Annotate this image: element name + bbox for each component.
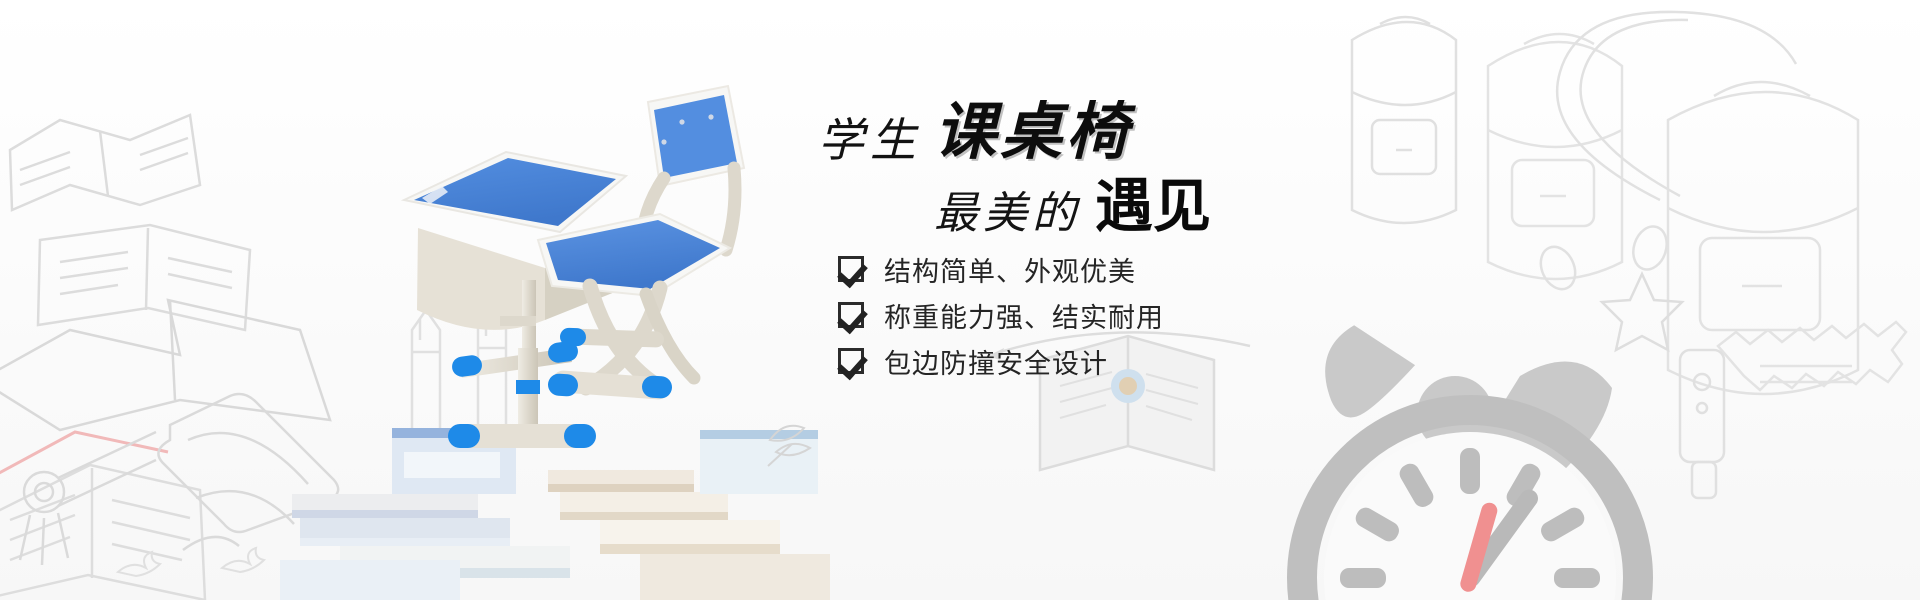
headline-line1-main: 课桌椅	[934, 99, 1132, 167]
checkbox-checked-icon	[838, 348, 864, 374]
magazine-icon	[38, 225, 250, 330]
feature-item: 结构简单、外观优美	[838, 248, 1298, 290]
earphone-icon	[1534, 12, 1796, 295]
feature-label: 称重能力强、结实耐用	[884, 296, 1164, 335]
feature-list: 结构简单、外观优美 称重能力强、结实耐用 包边防撞安全设计	[838, 248, 1298, 386]
backpack-icon	[1668, 82, 1858, 394]
feature-item: 称重能力强、结实耐用	[838, 294, 1298, 336]
feature-label: 结构简单、外观优美	[884, 250, 1136, 289]
checkbox-checked-icon	[838, 256, 864, 282]
headline-line-1: 学生课桌椅	[818, 102, 1132, 164]
headline-line2-prefix: 最美的	[934, 189, 1081, 238]
headline-line2-main: 遇见	[1095, 174, 1211, 239]
checkbox-checked-icon	[838, 302, 864, 328]
desk-lamp-icon	[20, 394, 338, 565]
feature-label: 包边防撞安全设计	[884, 342, 1108, 381]
headline-line1-prefix: 学生	[818, 115, 922, 166]
open-book-icon	[0, 300, 330, 430]
headline-line-2: 最美的遇见	[934, 178, 1211, 236]
open-book-icon	[10, 115, 200, 210]
dove-icon	[118, 548, 264, 576]
product-image-desk-and-chair	[330, 80, 800, 460]
star-icon	[1602, 274, 1682, 350]
open-book-icon	[0, 465, 205, 600]
promo-banner: 学生课桌椅 最美的遇见 结构简单、外观优美 称重能力强、结实耐用 包边防撞安全设…	[0, 0, 1920, 600]
ruler-icon	[1718, 322, 1906, 390]
feature-item: 包边防撞安全设计	[838, 340, 1298, 382]
flashlight-icon	[1680, 350, 1724, 498]
